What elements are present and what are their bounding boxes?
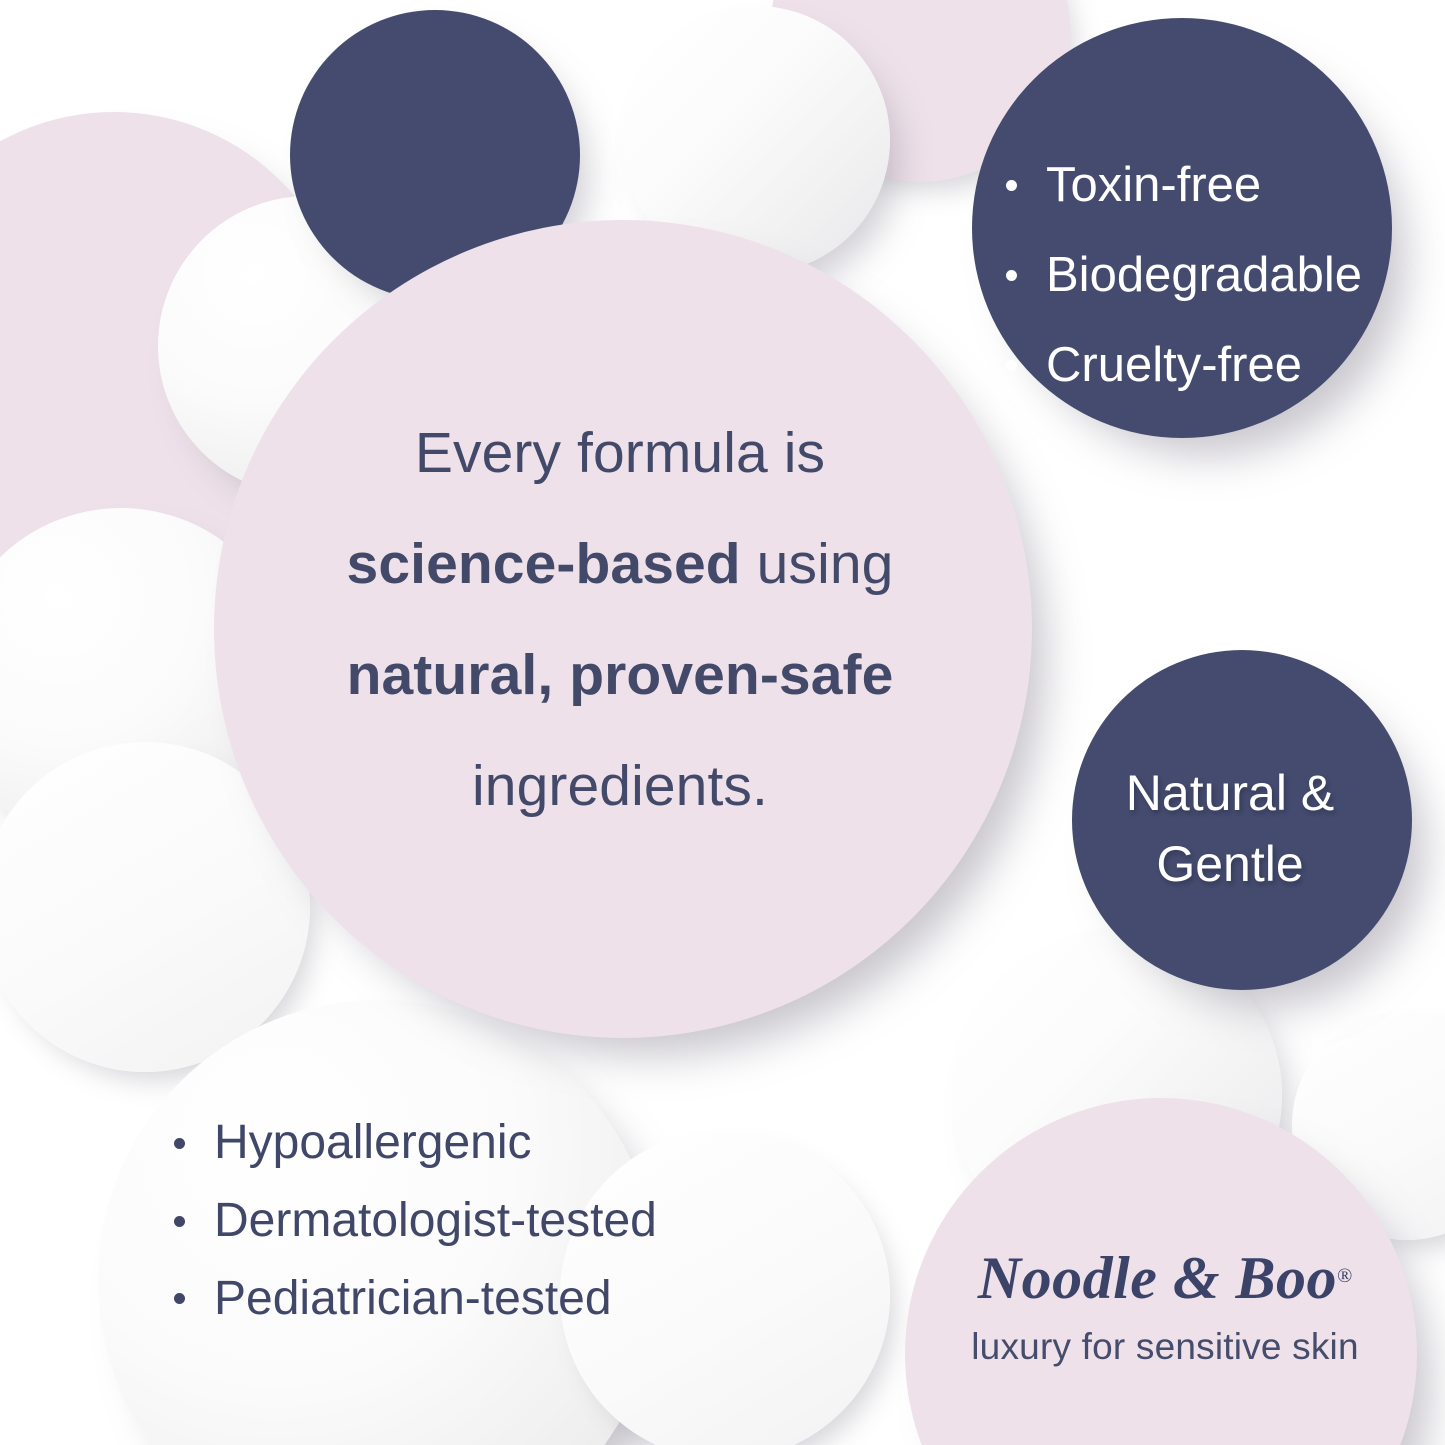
natural-gentle-line-2: Gentle xyxy=(1070,829,1390,900)
brand-logo: Noodle & Boo® luxury for sensitive skin xyxy=(940,1248,1390,1368)
tested-list-item: Pediatrician-tested xyxy=(168,1260,788,1338)
hero-line-2-rest: using xyxy=(741,532,894,596)
hero-line-2: science-based using xyxy=(250,509,990,620)
hero-line-1: Every formula is xyxy=(250,398,990,509)
claims-list-item: Toxin-free xyxy=(1000,140,1400,230)
registered-trademark-icon: ® xyxy=(1337,1265,1352,1287)
brand-wordmark: Noodle & Boo® xyxy=(940,1248,1390,1308)
tested-list-item: Hypoallergenic xyxy=(168,1104,788,1182)
hero-line-3: natural, proven-safe xyxy=(250,620,990,731)
natural-gentle-line-1: Natural & xyxy=(1070,758,1390,829)
hero-emphasis-science-based: science-based xyxy=(347,532,741,596)
promo-graphic-canvas: Every formula is science-based using nat… xyxy=(0,0,1445,1445)
brand-wordmark-text: Noodle & Boo xyxy=(978,1245,1337,1311)
natural-gentle-label: Natural & Gentle xyxy=(1070,758,1390,900)
hero-statement: Every formula is science-based using nat… xyxy=(250,398,990,843)
claims-list: Toxin-free Biodegradable Cruelty-free xyxy=(1000,140,1400,410)
brand-tagline: luxury for sensitive skin xyxy=(940,1326,1390,1368)
tested-list: Hypoallergenic Dermatologist-tested Pedi… xyxy=(168,1104,788,1337)
tested-list-item: Dermatologist-tested xyxy=(168,1182,788,1260)
claims-list-item: Cruelty-free xyxy=(1000,320,1400,410)
claims-list-item: Biodegradable xyxy=(1000,230,1400,320)
hero-emphasis-natural-proven-safe: natural, proven-safe xyxy=(347,643,894,707)
hero-line-4: ingredients. xyxy=(250,731,990,842)
